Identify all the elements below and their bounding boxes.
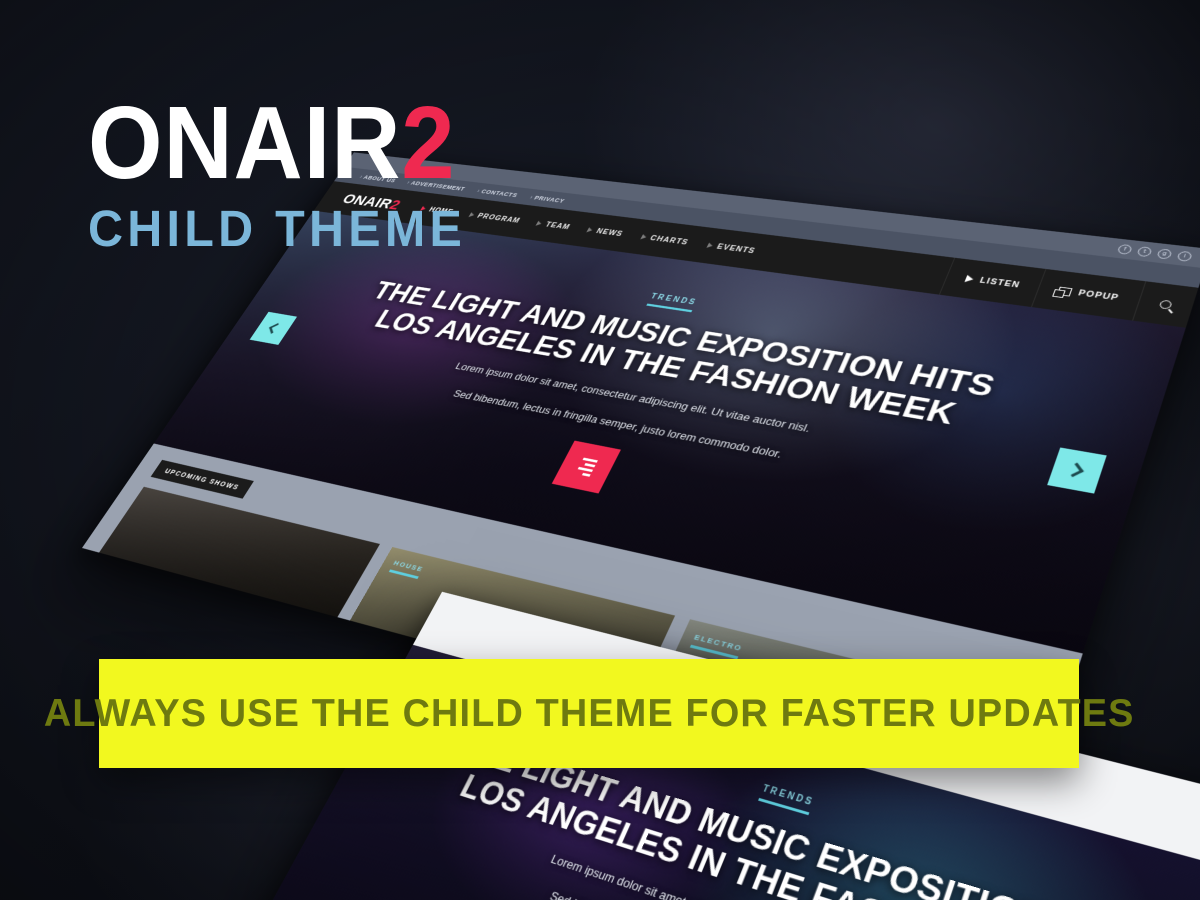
page-subtitle: CHILD THEME	[88, 203, 466, 254]
chevron-right-icon	[586, 227, 593, 233]
nav-item-news[interactable]: NEWS	[586, 226, 624, 237]
page-title-number: 2	[401, 85, 455, 200]
chevron-right-icon	[640, 234, 647, 240]
nav-item-team-label: TEAM	[544, 221, 572, 231]
facebook-icon[interactable]: f	[1117, 244, 1133, 255]
title-block: ONAIR2 CHILD THEME	[88, 96, 486, 254]
nav-item-charts-label: CHARTS	[649, 234, 690, 246]
show-card[interactable]	[82, 487, 380, 667]
hero-play-button[interactable]	[552, 441, 621, 494]
page-title: ONAIR2	[88, 96, 458, 191]
nav-item-events-label: EVENTS	[715, 243, 756, 255]
nav-item-team[interactable]: TEAM	[535, 220, 571, 231]
page-title-text: ONAIR	[88, 85, 401, 200]
utility-nav-item-privacy[interactable]: PRIVACY	[529, 194, 566, 204]
chevron-right-icon	[536, 221, 543, 226]
twitter-icon[interactable]: t	[1137, 246, 1153, 257]
nav-item-news-label: NEWS	[595, 228, 625, 238]
equalizer-icon	[575, 457, 598, 476]
search-icon	[1159, 299, 1173, 309]
callout-banner: ALWAYS USE THE CHILD THEME FOR FASTER UP…	[99, 659, 1079, 768]
instagram-icon[interactable]: i	[1177, 250, 1193, 261]
search-button[interactable]	[1132, 281, 1198, 328]
google-plus-icon[interactable]: g	[1156, 248, 1172, 259]
chevron-right-icon	[706, 243, 713, 249]
nav-item-events[interactable]: EVENTS	[706, 242, 757, 255]
popup-button-label: POPUP	[1077, 289, 1120, 302]
card-overlay	[82, 487, 380, 667]
hero-kicker: TRENDS	[646, 293, 698, 313]
popup-window-icon	[1057, 286, 1073, 296]
callout-banner-text: ALWAYS USE THE CHILD THEME FOR FASTER UP…	[44, 692, 1135, 736]
nav-item-charts[interactable]: CHARTS	[639, 233, 689, 246]
play-icon	[965, 275, 975, 283]
listen-button-label: LISTEN	[978, 276, 1021, 289]
